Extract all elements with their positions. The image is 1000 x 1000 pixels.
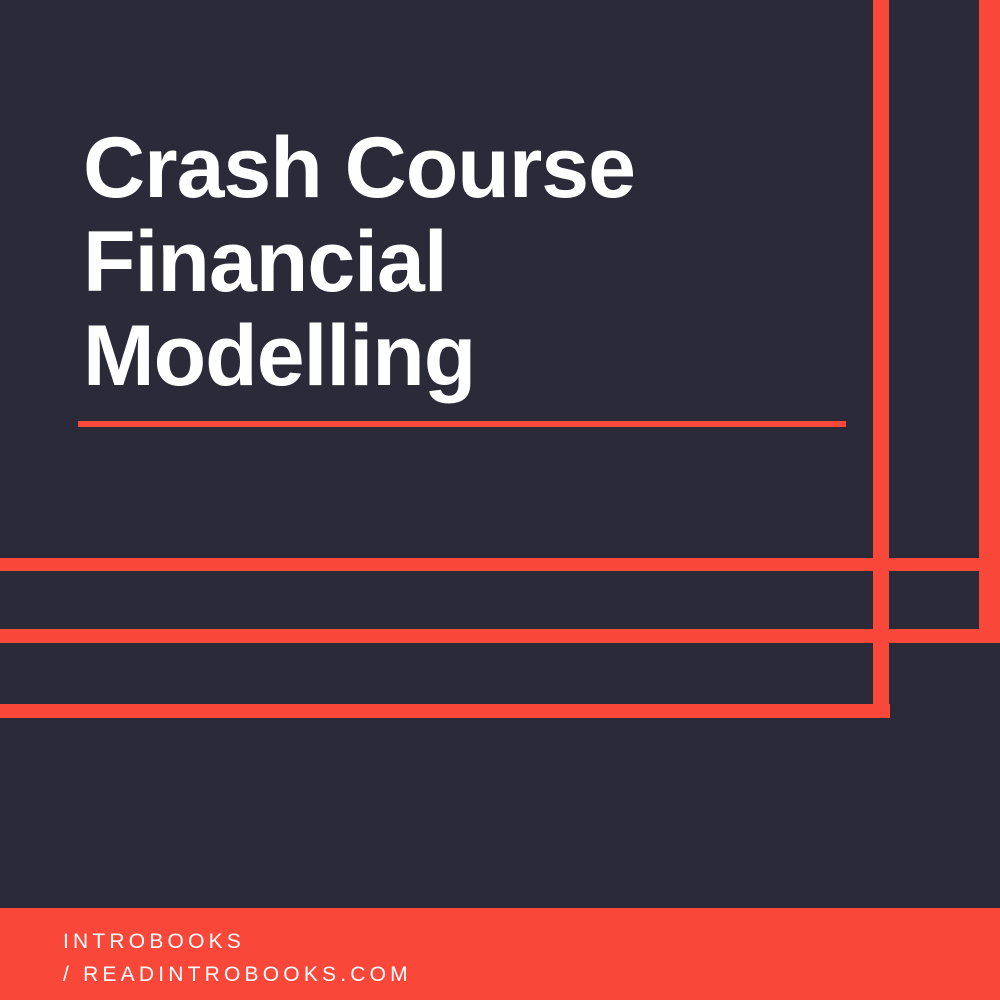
title-underline-rule (78, 421, 846, 427)
vertical-red-bar-outer (979, 0, 1000, 643)
horizontal-red-bar-bottom (0, 704, 890, 718)
horizontal-red-bar-top (0, 558, 979, 571)
title-line-1: Crash Course (83, 121, 873, 215)
book-cover: Crash Course Financial Modelling INTROBO… (0, 0, 1000, 1000)
title-line-3: Modelling (83, 309, 873, 403)
page-title: Crash Course Financial Modelling (83, 121, 873, 403)
footer-website-url: / READINTROBOOKS.COM (63, 958, 863, 991)
title-line-2: Financial (83, 215, 873, 309)
horizontal-red-bar-middle (0, 629, 1000, 643)
vertical-red-bar-inner (873, 0, 889, 718)
footer-imprint: INTROBOOKS / READINTROBOOKS.COM (63, 925, 863, 991)
footer-publisher-name: INTROBOOKS (63, 925, 863, 958)
